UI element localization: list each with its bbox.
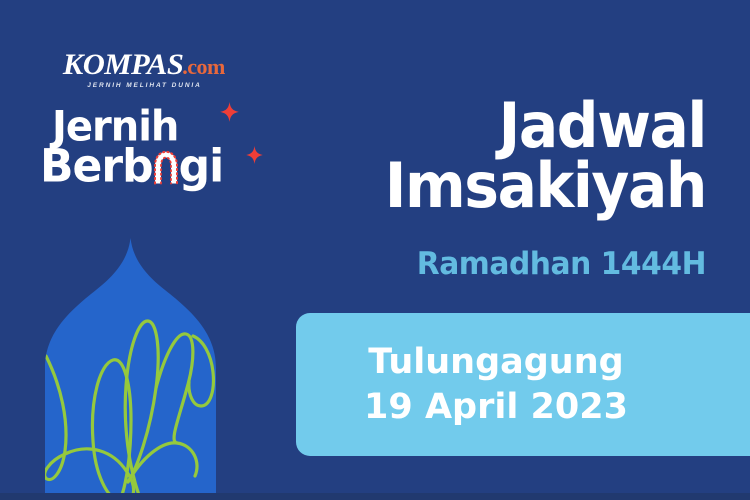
kompas-logo-suffix: .com bbox=[182, 56, 225, 78]
imsakiyah-poster: KOMPAS.com JERNIH MELIHAT DUNIA Jernih B… bbox=[0, 0, 750, 500]
headline-line-1: Jadwal bbox=[277, 96, 706, 156]
jernih-berbagi-line2: Berbgi bbox=[40, 144, 223, 190]
kompas-tagline: JERNIH MELIHAT DUNIA bbox=[57, 83, 232, 90]
jernih-berbagi-logo: Jernih Berbgi bbox=[40, 106, 265, 198]
poster-headline: Jadwal Imsakiyah bbox=[250, 96, 706, 215]
kompas-logo-word: KOMPAS bbox=[63, 50, 184, 80]
headline-line-2: Imsakiyah bbox=[277, 156, 706, 216]
berbagi-suffix: gi bbox=[179, 144, 224, 190]
poster-subheadline: Ramadhan 1444H bbox=[268, 246, 706, 282]
mosque-arch-decoration bbox=[43, 236, 218, 494]
kompas-wordmark: KOMPAS.com bbox=[57, 50, 232, 80]
date-label: 19 April 2023 bbox=[364, 385, 628, 430]
sparkle-star-icon bbox=[220, 102, 239, 122]
berbagi-prefix: Berb bbox=[40, 144, 153, 190]
kompas-logo[interactable]: KOMPAS.com JERNIH MELIHAT DUNIA bbox=[57, 50, 232, 90]
bottom-strip bbox=[0, 493, 750, 500]
arch-letter-a-icon bbox=[153, 150, 179, 183]
location-date-card: Tulungagung 19 April 2023 bbox=[296, 313, 750, 456]
location-label: Tulungagung bbox=[368, 340, 623, 385]
